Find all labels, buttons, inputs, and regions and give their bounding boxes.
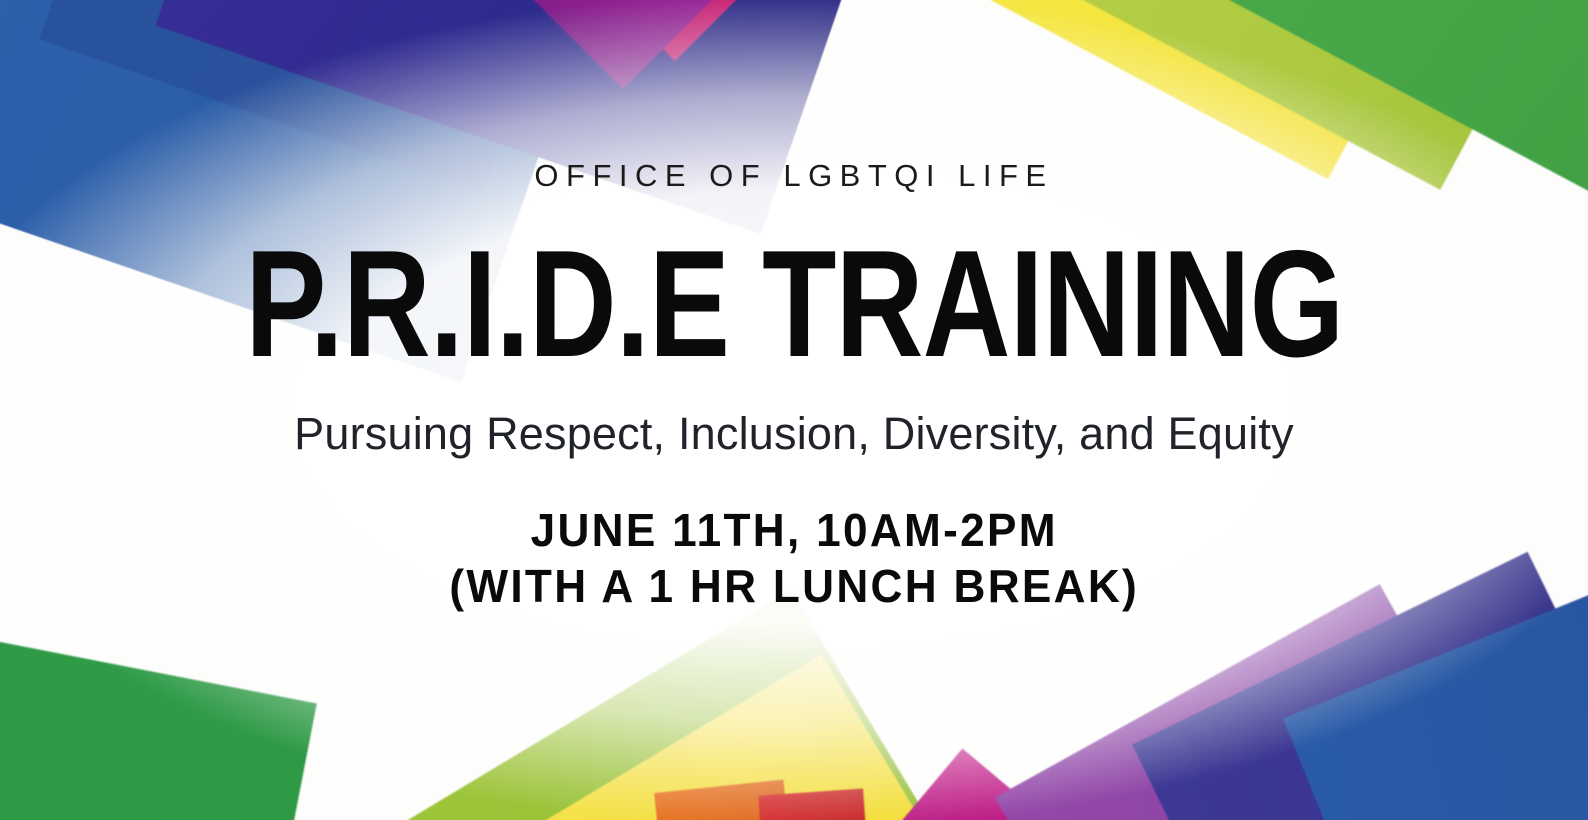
pride-training-poster: OFFICE OF LGBTQI LIFE P.R.I.D.E TRAINING… xyxy=(0,0,1588,820)
event-details: JUNE 11TH, 10AM-2PM (WITH A 1 HR LUNCH B… xyxy=(449,502,1139,614)
organization-label: OFFICE OF LGBTQI LIFE xyxy=(534,158,1053,194)
poster-subtitle: Pursuing Respect, Inclusion, Diversity, … xyxy=(294,408,1294,460)
page-title: P.R.I.D.E TRAINING xyxy=(245,232,1343,378)
poster-content: OFFICE OF LGBTQI LIFE P.R.I.D.E TRAINING… xyxy=(0,0,1588,820)
event-note: (WITH A 1 HR LUNCH BREAK) xyxy=(449,558,1139,614)
event-date-time: JUNE 11TH, 10AM-2PM xyxy=(449,502,1139,558)
